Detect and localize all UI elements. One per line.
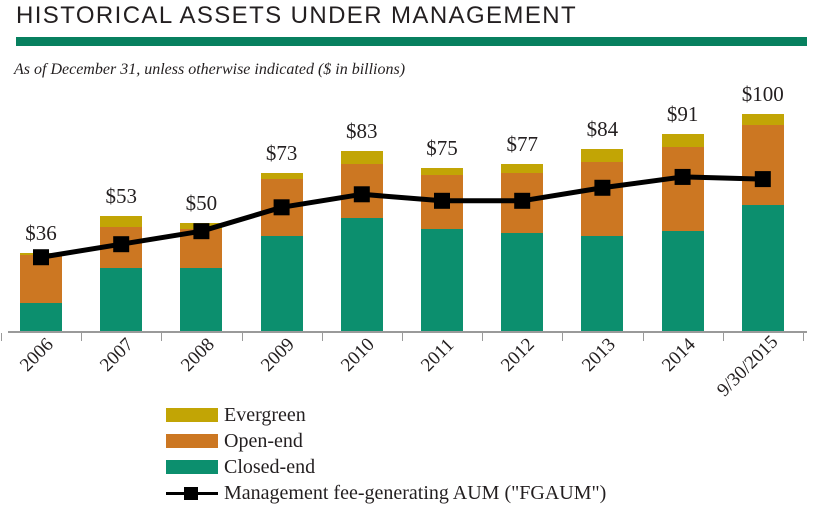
bar-segment-evergreen <box>341 151 383 164</box>
x-axis-label-2012: 2012 <box>497 334 539 376</box>
bar-segment-open-end <box>341 164 383 218</box>
bar-segment-open-end <box>662 147 704 232</box>
x-axis-label-2014: 2014 <box>658 334 700 376</box>
bar-2011 <box>421 168 463 331</box>
bar-segment-evergreen <box>501 164 543 173</box>
legend-swatch-icon <box>166 434 218 448</box>
bar-segment-closed-end <box>180 268 222 331</box>
bar-value-label-2012: $77 <box>482 132 562 157</box>
bar-segment-closed-end <box>581 236 623 331</box>
bar-segment-closed-end <box>20 303 62 331</box>
bar-value-label-2010: $83 <box>322 119 402 144</box>
x-axis-label-2011: 2011 <box>417 334 459 376</box>
bar-segment-open-end <box>20 255 62 303</box>
plot-area: $36$53$50$73$83$75$77$84$91$100 <box>0 90 820 340</box>
bar-segment-open-end <box>261 179 303 235</box>
bar-segment-open-end <box>421 175 463 229</box>
legend-item-evergreen[interactable]: Evergreen <box>166 402 726 428</box>
bar-segment-open-end <box>501 173 543 234</box>
bar-segment-open-end <box>180 229 222 268</box>
bar-value-label-2013: $84 <box>562 117 642 142</box>
bar-value-label-2011: $75 <box>402 136 482 161</box>
legend-swatch-icon <box>166 460 218 474</box>
bar-segment-open-end <box>742 125 784 205</box>
legend-label: Management fee-generating AUM ("FGAUM") <box>224 482 606 505</box>
x-axis-label-2009: 2009 <box>257 334 299 376</box>
bar-2013 <box>581 149 623 331</box>
chart-subtitle: As of December 31, unless otherwise indi… <box>14 61 405 79</box>
legend-item-management-fee-generating-aum-fgaum[interactable]: Management fee-generating AUM ("FGAUM") <box>166 480 726 506</box>
x-axis-label-2008: 2008 <box>177 334 219 376</box>
bar-segment-open-end <box>581 162 623 236</box>
x-axis-label-group: 2006200720082009201020112012201320149/30… <box>0 336 820 408</box>
legend-swatch-icon <box>166 408 218 422</box>
legend-item-closed-end[interactable]: Closed-end <box>166 454 726 480</box>
bar-segment-closed-end <box>662 231 704 331</box>
bar-segment-closed-end <box>341 218 383 331</box>
x-axis-label-2015: 9/30/2015 <box>713 331 783 401</box>
title-underline-rule <box>16 37 807 46</box>
bar-2010 <box>341 151 383 331</box>
bar-2009 <box>261 173 303 331</box>
bar-value-label-2015: $100 <box>723 82 803 107</box>
bar-segment-closed-end <box>421 229 463 331</box>
legend-line-marker-icon <box>166 486 218 500</box>
bar-segment-open-end <box>100 227 142 268</box>
bar-segment-closed-end <box>742 205 784 331</box>
bar-value-label-2008: $50 <box>161 191 241 216</box>
bar-2006 <box>20 253 62 331</box>
bar-2007 <box>100 216 142 331</box>
bar-2008 <box>180 223 222 331</box>
page-title: HISTORICAL ASSETS UNDER MANAGEMENT <box>16 2 577 30</box>
bar-2014 <box>662 134 704 331</box>
legend-label: Closed-end <box>224 456 315 479</box>
bar-value-label-2006: $36 <box>1 221 81 246</box>
legend-label: Evergreen <box>224 404 306 427</box>
chart-page: HISTORICAL ASSETS UNDER MANAGEMENT As of… <box>0 0 820 521</box>
bar-segment-closed-end <box>501 233 543 331</box>
legend-label: Open-end <box>224 430 303 453</box>
x-axis-label-2010: 2010 <box>337 334 379 376</box>
bar-segment-evergreen <box>100 216 142 227</box>
bar-value-label-2014: $91 <box>643 102 723 127</box>
x-axis-label-2007: 2007 <box>96 334 138 376</box>
bar-segment-closed-end <box>261 236 303 331</box>
bar-segment-evergreen <box>742 114 784 125</box>
bar-value-label-2009: $73 <box>242 141 322 166</box>
legend-item-open-end[interactable]: Open-end <box>166 428 726 454</box>
bar-2015 <box>742 114 784 331</box>
x-axis-label-2006: 2006 <box>16 334 58 376</box>
x-axis-line <box>8 331 807 333</box>
x-axis-label-2013: 2013 <box>578 334 620 376</box>
bar-segment-closed-end <box>100 268 142 331</box>
bar-value-label-2007: $53 <box>81 184 161 209</box>
bar-2012 <box>501 164 543 331</box>
chart-legend: EvergreenOpen-endClosed-endManagement fe… <box>166 402 726 506</box>
bar-segment-evergreen <box>581 149 623 162</box>
bar-segment-evergreen <box>662 134 704 147</box>
